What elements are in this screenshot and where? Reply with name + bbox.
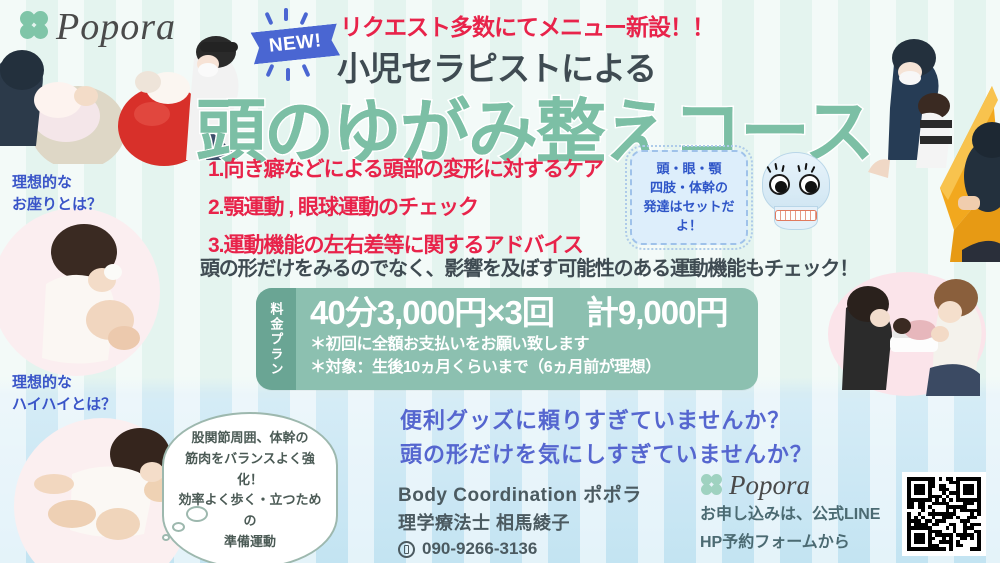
thought-line: 筋肉をバランスよく強化！ (174, 449, 326, 491)
qr-code-icon[interactable] (902, 472, 986, 556)
closing-questions: 便利グッズに頼りすぎていませんか？ 頭の形だけを気にしすぎていませんか？ (400, 404, 813, 472)
bubble-line: 頭・眼・顎 (638, 160, 740, 179)
business-name: Body Coordination ポポラ (398, 480, 642, 507)
price-plan-box: 料金プラン 40分3,000円×3回 計9,000円 ＊初回に全額お支払いをお願… (256, 288, 758, 390)
price-plan-tag: 料金プラン (256, 288, 296, 390)
thought-tail-dot (172, 522, 185, 532)
mobile-phone-icon (398, 541, 415, 558)
feature-note: 頭の形だけをみるのでなく、影響を及ぼす可能性のある運動機能もチェック！ (200, 252, 858, 281)
therapist-name: 理学療法士 相馬綾子 (398, 509, 642, 535)
question-line: 便利グッズに頼りすぎていませんか？ (400, 404, 813, 438)
photo-session-circle (828, 272, 986, 396)
price-note-1: ＊初回に全額お支払いをお願い致します (310, 333, 748, 356)
label-ideal-crawling: 理想的な ハイハイとは？ (12, 372, 116, 416)
cta-block: Popora お申し込みは、公式LINE HP予約フォームから (700, 472, 880, 555)
new-badge-label: NEW! (251, 24, 341, 65)
thought-line: 準備運動 (174, 532, 326, 553)
question-line: 頭の形だけを気にしすぎていませんか？ (400, 438, 813, 472)
price-note-2: ＊対象：生後10ヵ月くらいまで（6ヵ月前が理想） (310, 356, 748, 379)
clover-icon (700, 473, 726, 499)
cta-line-2: HP予約フォームから (700, 531, 880, 555)
spark-icon (300, 12, 309, 26)
feature-list: 1.向き癖などによる頭部の変形に対するケア 2.顎運動 , 眼球運動のチェック … (208, 153, 603, 267)
cta-brand-logo: Popora (700, 472, 880, 499)
bubble-line: 発達はセットだよ！ (638, 198, 740, 236)
cta-brand-name: Popora (729, 472, 810, 499)
headline-kicker: リクエスト多数にてメニュー新設！！ (340, 8, 714, 42)
skull-callout: 頭・眼・顎 四肢・体幹の 発達はセットだよ！ (630, 150, 748, 245)
label-line: 理想的な (12, 372, 116, 394)
thought-line: 股関節周囲、体幹の (174, 428, 326, 449)
list-item: 2.顎運動 , 眼球運動のチェック (208, 191, 603, 221)
phone-number: 090-9266-3136 (422, 539, 537, 559)
label-line: ハイハイとは？ (12, 394, 116, 416)
bubble-line: 四肢・体幹の (638, 179, 740, 198)
spark-icon (265, 12, 274, 26)
flyer-canvas: Popora (0, 0, 1000, 563)
label-line: 理想的な (12, 172, 102, 194)
list-item: 1.向き癖などによる頭部の変形に対するケア (208, 153, 603, 183)
skull-speech-bubble: 頭・眼・顎 四肢・体幹の 発達はセットだよ！ (630, 150, 748, 245)
thought-tail-dot (162, 534, 170, 541)
thought-callout: 股関節周囲、体幹の 筋肉をバランスよく強化！ 効率よく歩く・立つための 準備運動 (162, 412, 338, 563)
cta-line-1: お申し込みは、公式LINE (700, 503, 880, 527)
new-badge: NEW! (252, 28, 339, 60)
skull-icon (758, 152, 834, 238)
label-line: お座りとは？ (12, 194, 102, 216)
price-main: 40分3,000円×3回 計9,000円 (310, 292, 748, 333)
phone-row[interactable]: 090-9266-3136 (398, 539, 642, 559)
thought-bubble: 股関節周囲、体幹の 筋肉をバランスよく強化！ 効率よく歩く・立つための 準備運動 (162, 412, 338, 563)
contact-block: Body Coordination ポポラ 理学療法士 相馬綾子 090-926… (398, 480, 642, 559)
label-ideal-sitting: 理想的な お座りとは？ (12, 172, 102, 216)
thought-tail-dot (186, 506, 208, 522)
photo-baby-sitting (0, 208, 160, 376)
spark-icon (284, 8, 288, 21)
